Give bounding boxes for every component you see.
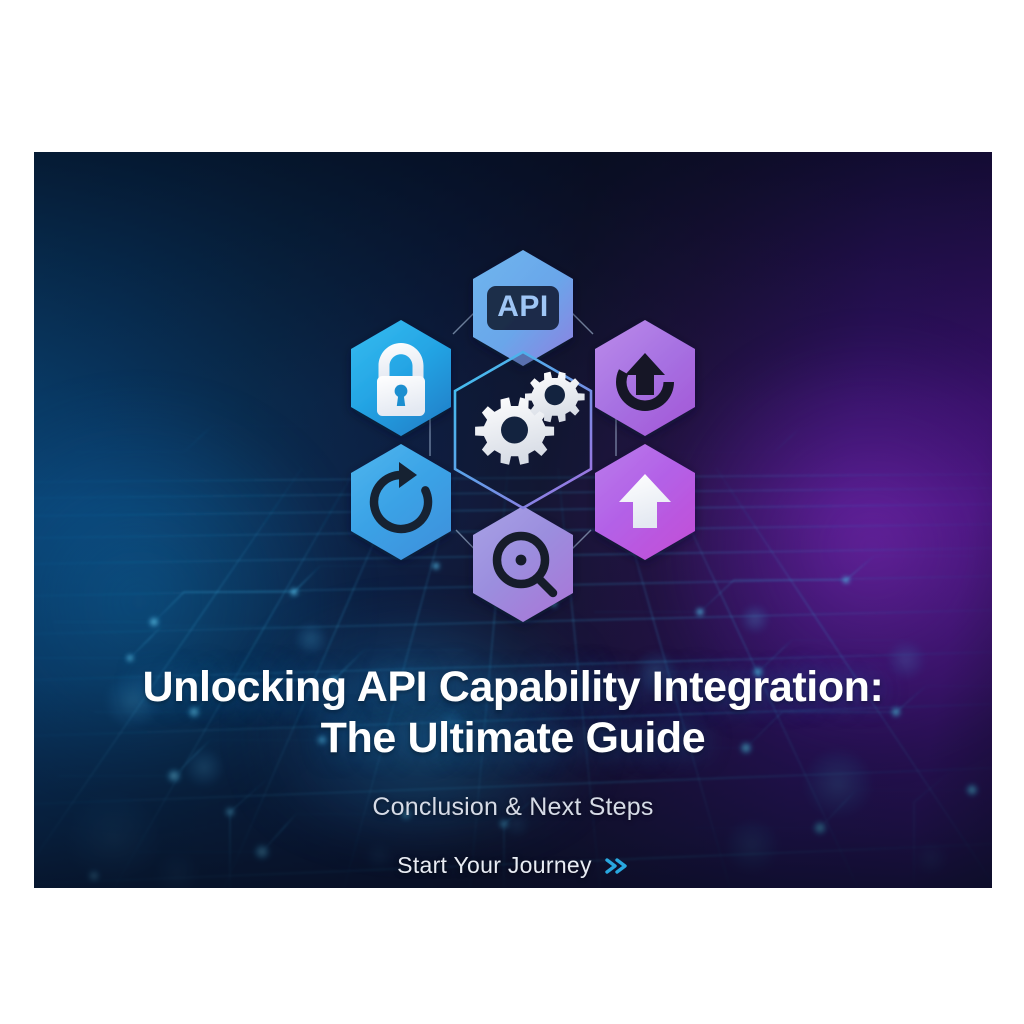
slide-subtitle: Conclusion & Next Steps: [74, 793, 952, 822]
hex-node-deploy[interactable]: [595, 320, 695, 436]
hexagon-cluster: API: [333, 230, 713, 640]
title-line-1: Unlocking API Capability Integration:: [74, 662, 952, 713]
slide-text-block: Unlocking API Capability Integration: Th…: [34, 662, 992, 879]
hex-node-api[interactable]: API: [473, 250, 573, 366]
presentation-slide-card: API: [34, 152, 992, 888]
lock-icon: [377, 343, 425, 416]
api-badge-label: API: [497, 290, 549, 323]
hex-node-discovery[interactable]: [473, 506, 573, 622]
page-title: Unlocking API Capability Integration: Th…: [74, 662, 952, 763]
title-line-2: The Ultimate Guide: [74, 713, 952, 764]
hex-node-security[interactable]: [351, 320, 451, 436]
hex-node-sync[interactable]: [351, 444, 451, 560]
cta-label: Start Your Journey: [397, 852, 592, 879]
slide-canvas: API: [0, 0, 1024, 1024]
hex-shape-sync: [351, 444, 451, 560]
hex-node-scale[interactable]: [595, 444, 695, 560]
double-chevron-right-icon: [603, 855, 629, 877]
cta-start-your-journey[interactable]: Start Your Journey: [74, 852, 952, 879]
hex-node-core[interactable]: [455, 352, 591, 508]
